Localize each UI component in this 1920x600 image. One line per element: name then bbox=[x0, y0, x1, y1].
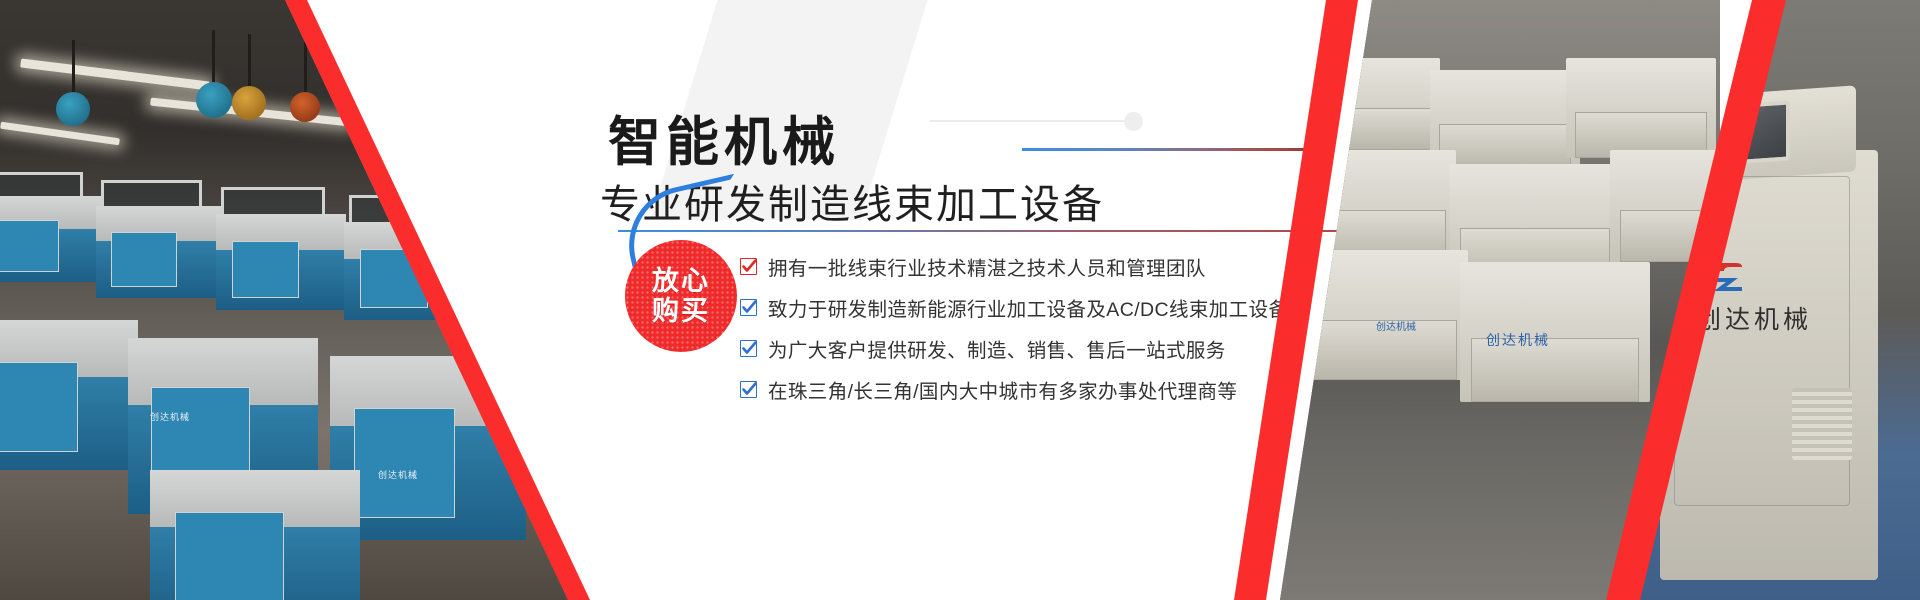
cable-reel bbox=[232, 86, 266, 120]
workbench-unit bbox=[1566, 58, 1716, 158]
cable-reel bbox=[290, 92, 320, 122]
machine-unit bbox=[0, 196, 102, 282]
machine-brand-label: 创达机械 bbox=[150, 410, 190, 423]
checkbox-checked-icon bbox=[740, 340, 757, 357]
machine-unit bbox=[96, 206, 222, 298]
feature-text: 在珠三角/长三角/国内大中城市有多家办事处代理商等 bbox=[768, 375, 1237, 404]
feature-text: 为广大客户提供研发、制造、销售、售后一站式服务 bbox=[768, 334, 1226, 363]
list-item: 致力于研发制造新能源行业加工设备及AC/DC线束加工设备 bbox=[740, 287, 1360, 328]
hanger-pole bbox=[72, 40, 75, 100]
cable-reel bbox=[56, 92, 90, 126]
hanger-pole bbox=[212, 30, 215, 86]
machine-brand-label: 创达机械 bbox=[378, 468, 418, 481]
badge-line-2: 购买 bbox=[652, 296, 710, 326]
list-item: 拥有一批线束行业技术精湛之技术人员和管理团队 bbox=[740, 246, 1360, 287]
photo-factory-left: 创达机械 创达机械 bbox=[0, 0, 600, 600]
machine-brand-label: 创达机械 bbox=[1376, 318, 1416, 333]
machine-unit bbox=[0, 320, 138, 470]
cable-reel bbox=[196, 82, 232, 118]
checkbox-checked-icon bbox=[740, 381, 757, 398]
page-title: 智能机械 bbox=[608, 100, 1368, 176]
status-badge: 放心 购买 bbox=[625, 240, 737, 352]
feature-text: 致力于研发制造新能源行业加工设备及AC/DC线束加工设备 bbox=[768, 293, 1288, 322]
banner-content: 智能机械 专业研发制造线束加工设备 放心 购买 拥有一批线束行业技术精湛之技术人… bbox=[600, 0, 1360, 600]
hero-banner: 创达机械 创达机械 智能机械 专业研发制造线束加工设备 放心 购买 拥有一批线束… bbox=[0, 0, 1920, 600]
feature-text: 拥有一批线束行业技术精湛之技术人员和管理团队 bbox=[768, 252, 1206, 281]
machine-vent-grille bbox=[1792, 388, 1852, 460]
machine-brand-label: 创达机械 bbox=[1486, 330, 1550, 350]
hanger-pole bbox=[248, 34, 251, 90]
list-item: 为广大客户提供研发、制造、销售、售后一站式服务 bbox=[740, 328, 1360, 369]
hanger-pole bbox=[304, 42, 307, 94]
checkbox-checked-icon bbox=[740, 299, 757, 316]
machine-unit bbox=[216, 214, 346, 310]
badge-line-1: 放心 bbox=[652, 266, 710, 296]
machine-unit bbox=[150, 470, 360, 600]
machine-brand-label: 创达机械 bbox=[1696, 300, 1812, 336]
